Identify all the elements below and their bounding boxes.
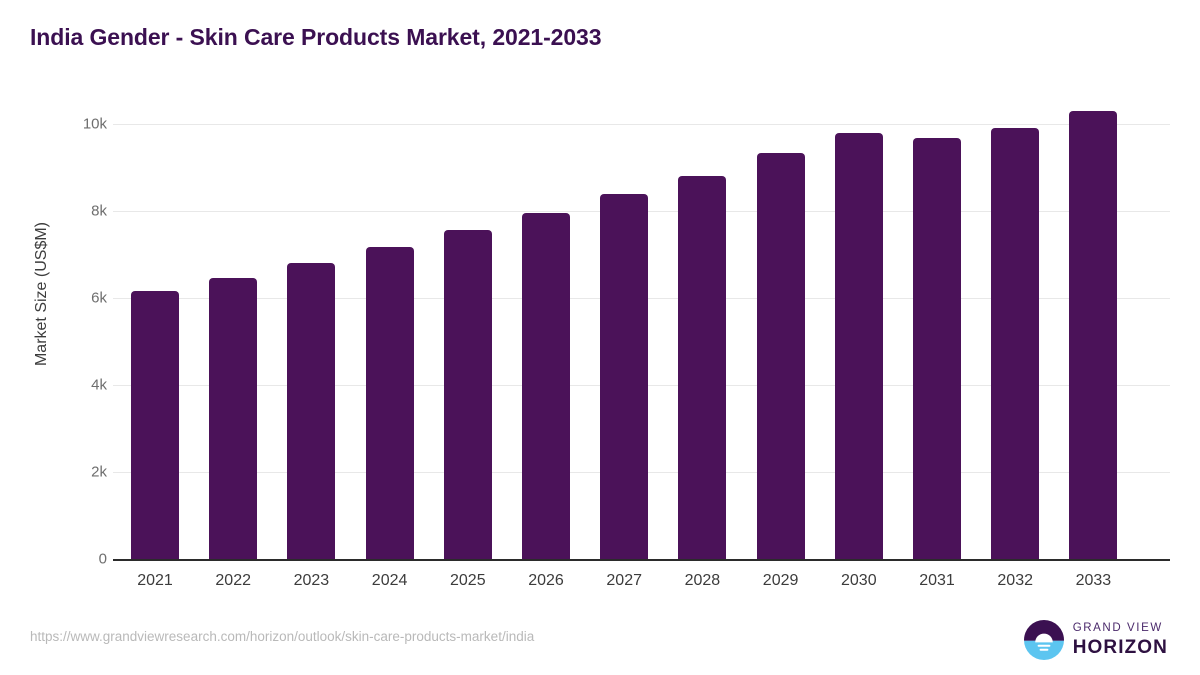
x-axis-tick-label-2029: 2029 (736, 572, 826, 590)
y-axis-tick-label: 0 (27, 551, 107, 568)
bar-2026[interactable] (522, 213, 570, 559)
x-axis-tick-label-2025: 2025 (423, 572, 513, 590)
x-axis-tick-label-2026: 2026 (501, 572, 591, 590)
brand-logo-line2: HORIZON (1073, 638, 1168, 657)
x-axis-tick-label-2031: 2031 (892, 572, 982, 590)
y-axis-tick-label: 10k (27, 116, 107, 133)
brand-logo-line1: GRAND VIEW (1073, 623, 1168, 635)
bar-2022[interactable] (209, 278, 257, 559)
bar-2029[interactable] (757, 153, 805, 559)
source-url[interactable]: https://www.grandviewresearch.com/horizo… (30, 629, 534, 644)
x-axis-tick-label-2032: 2032 (970, 572, 1060, 590)
brand-logo-text: GRAND VIEW HORIZON (1073, 623, 1168, 658)
x-axis-tick-label-2030: 2030 (814, 572, 904, 590)
y-axis-tick-label: 8k (27, 203, 107, 220)
y-axis-tick-label: 6k (27, 290, 107, 307)
y-axis-tick-label: 2k (27, 464, 107, 481)
bar-2024[interactable] (366, 247, 414, 559)
bar-2023[interactable] (287, 263, 335, 559)
y-axis-tick-label: 4k (27, 377, 107, 394)
x-axis-tick-label-2028: 2028 (657, 572, 747, 590)
x-axis-tick-label-2024: 2024 (345, 572, 435, 590)
bar-2031[interactable] (913, 138, 961, 559)
brand-logo[interactable]: GRAND VIEW HORIZON (1024, 620, 1168, 660)
x-axis-tick-label-2023: 2023 (266, 572, 356, 590)
x-axis-tick-label-2033: 2033 (1048, 572, 1138, 590)
bar-2032[interactable] (991, 128, 1039, 559)
grand-view-horizon-sun-icon (1024, 620, 1064, 660)
bar-2027[interactable] (600, 194, 648, 559)
chart-page: India Gender - Skin Care Products Market… (0, 0, 1200, 675)
x-axis-tick-label-2021: 2021 (110, 572, 200, 590)
chart-plot-area: Market Size (US$M) 02k4k6k8k10k 20212022… (0, 0, 1200, 675)
x-axis-tick-label-2027: 2027 (579, 572, 669, 590)
x-axis-line (113, 559, 1170, 561)
bar-2028[interactable] (678, 176, 726, 559)
bar-2033[interactable] (1069, 111, 1117, 559)
gridline (113, 124, 1170, 125)
bar-2025[interactable] (444, 230, 492, 559)
bar-2030[interactable] (835, 133, 883, 559)
bar-2021[interactable] (131, 291, 179, 559)
x-axis-tick-label-2022: 2022 (188, 572, 278, 590)
